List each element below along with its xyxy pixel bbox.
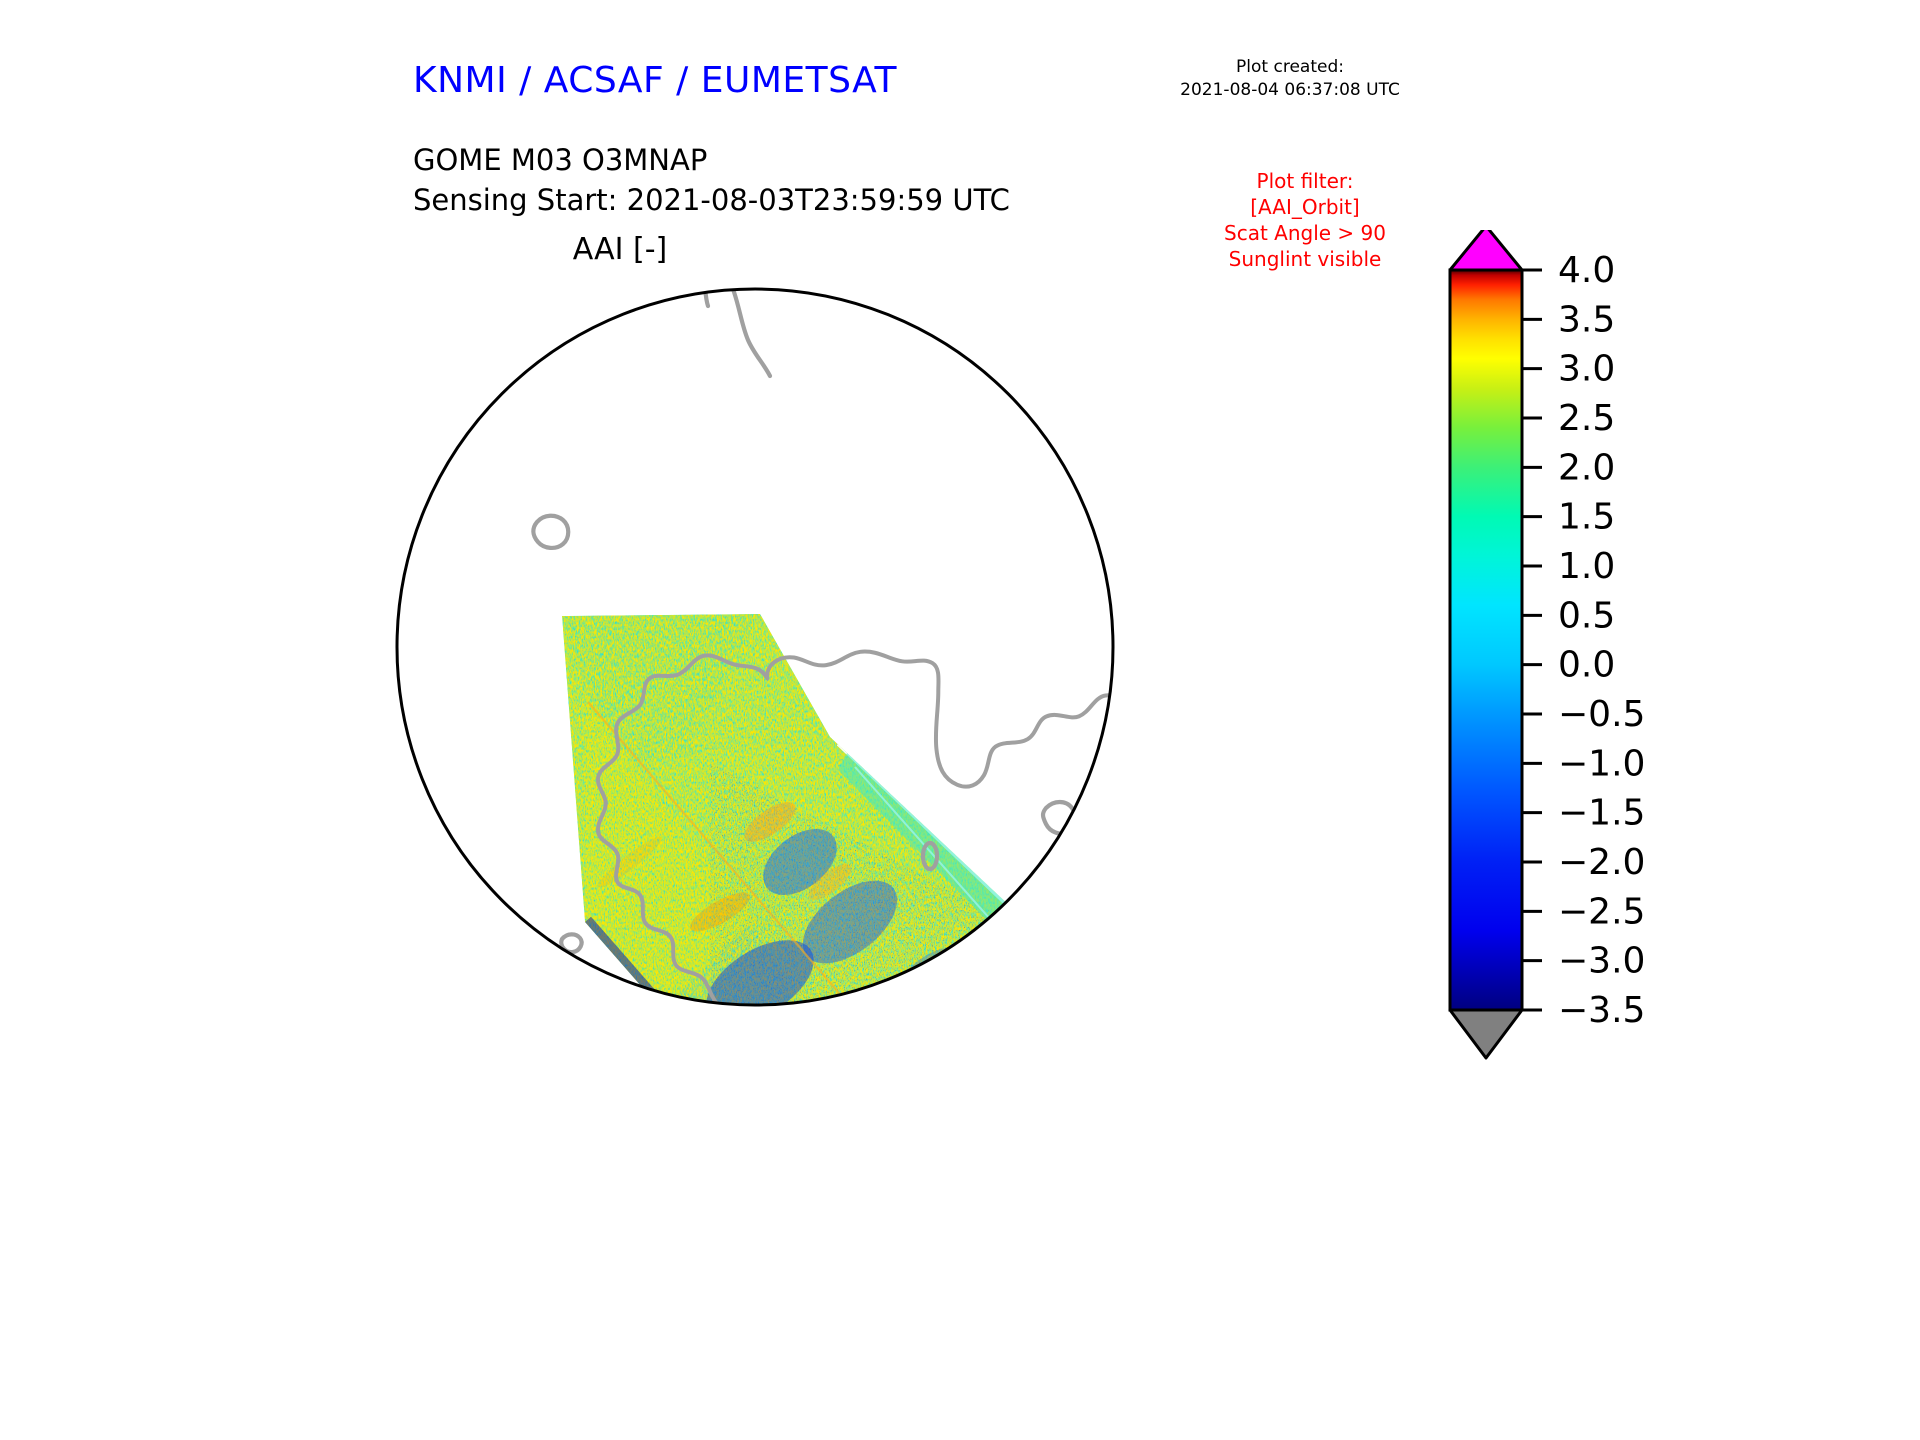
product-block: GOME M03 O3MNAP Sensing Start: 2021-08-0… — [413, 140, 1010, 220]
colorbar-tick-label: 2.0 — [1558, 447, 1615, 488]
colorbar-tick-label: 1.0 — [1558, 546, 1615, 587]
colorbar-tick-label: −1.5 — [1558, 793, 1645, 834]
colorbar[interactable]: 4.03.53.02.52.01.51.00.50.0−0.5−1.0−1.5−… — [1430, 230, 1850, 1060]
colorbar-tick-label: −2.5 — [1558, 891, 1645, 932]
plot-created-label: Plot created: — [1140, 56, 1440, 79]
plot-created-value: 2021-08-04 06:37:08 UTC — [1140, 79, 1440, 102]
agency-title: KNMI / ACSAF / EUMETSAT — [413, 60, 897, 101]
product-name: GOME M03 O3MNAP — [413, 140, 1010, 180]
colorbar-tick-label: −1.0 — [1558, 743, 1645, 784]
filter-name: [AAI_Orbit] — [1155, 194, 1455, 220]
filter-label: Plot filter: — [1155, 168, 1455, 194]
colorbar-tick-label: 0.0 — [1558, 645, 1615, 686]
colorbar-tick-label: 4.0 — [1558, 250, 1615, 291]
colorbar-tick-label: 3.0 — [1558, 349, 1615, 390]
colorbar-tick-label: −2.0 — [1558, 842, 1645, 883]
colorbar-tick-label: −3.0 — [1558, 941, 1645, 982]
colorbar-gradient — [1450, 270, 1522, 1010]
polar-map — [330, 222, 1180, 1072]
colorbar-tick-label: 1.5 — [1558, 497, 1615, 538]
colorbar-over-arrow — [1450, 230, 1522, 270]
colorbar-tick-label: 3.5 — [1558, 299, 1615, 340]
plot-created-block: Plot created: 2021-08-04 06:37:08 UTC — [1140, 56, 1440, 102]
colorbar-tick-label: 0.5 — [1558, 595, 1615, 636]
colorbar-panel: 4.03.53.02.52.01.51.00.50.0−0.5−1.0−1.5−… — [1430, 230, 1850, 1060]
map-panel — [330, 222, 1180, 1072]
colorbar-under-arrow — [1450, 1010, 1522, 1058]
colorbar-tick-label: −0.5 — [1558, 694, 1645, 735]
colorbar-tick-label: 2.5 — [1558, 398, 1615, 439]
colorbar-ticks: 4.03.53.02.52.01.51.00.50.0−0.5−1.0−1.5−… — [1522, 250, 1645, 1031]
sensing-start: Sensing Start: 2021-08-03T23:59:59 UTC — [413, 180, 1010, 220]
colorbar-tick-label: −3.5 — [1558, 990, 1645, 1031]
